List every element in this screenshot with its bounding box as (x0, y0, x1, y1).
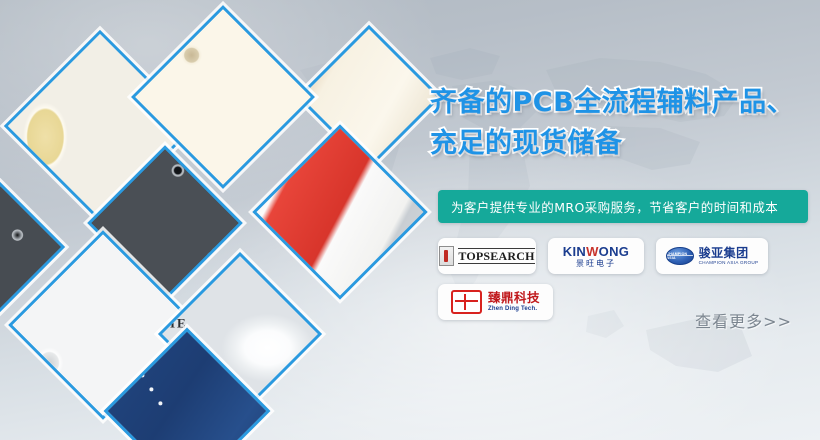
logo-kinwong[interactable]: KINWONG 景旺电子 (548, 238, 644, 274)
logo-champion-asia[interactable]: CHAMPION ASIA 骏亚集团 CHAMPION ASIA GROUP (656, 238, 768, 274)
kinwong-label-en: KINWONG (563, 245, 629, 258)
kinwong-label-cn: 景旺电子 (563, 260, 629, 268)
champion-label-en: CHAMPION ASIA GROUP (699, 261, 759, 266)
headline-line-2: 充足的现货储备 (430, 123, 820, 164)
promo-banner: JIE 齐备的PCB全流程辅料产品、 充足的现货储备 为客户提供专业的MRO采购… (0, 0, 820, 440)
globe-icon: CHAMPION ASIA (666, 247, 694, 265)
topsearch-label: TOPSEARCH (458, 248, 534, 264)
zhen-ding-mark-icon (451, 290, 482, 314)
zhen-ding-label-en: Zhen Ding Tech. (488, 306, 540, 312)
view-more-link[interactable]: 查看更多>> (695, 308, 792, 332)
topsearch-mark-icon (439, 246, 454, 266)
headline-line-1: 齐备的PCB全流程辅料产品、 (430, 82, 820, 123)
subtitle-text: 为客户提供专业的MRO采购服务，节省客户的时间和成本 (438, 197, 778, 216)
champion-label-cn: 骏亚集团 (699, 247, 759, 259)
logo-zhen-ding[interactable]: 臻鼎科技 Zhen Ding Tech. (438, 284, 553, 320)
product-collage: JIE (0, 0, 430, 440)
tile-colored-sheet-stack (252, 124, 427, 299)
headline: 齐备的PCB全流程辅料产品、 充足的现货储备 (430, 82, 820, 164)
logo-topsearch[interactable]: TOPSEARCH (438, 238, 536, 274)
zhen-ding-label-cn: 臻鼎科技 (488, 292, 540, 305)
banner-content: 齐备的PCB全流程辅料产品、 充足的现货储备 为客户提供专业的MRO采购服务，节… (430, 0, 820, 440)
subtitle-bar: 为客户提供专业的MRO采购服务，节省客户的时间和成本 (438, 190, 808, 223)
